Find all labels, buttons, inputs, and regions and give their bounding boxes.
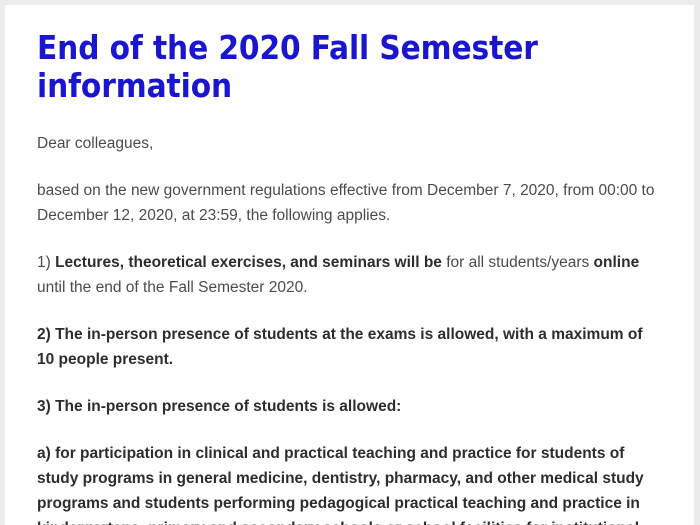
item-1-middle: for all students/years (442, 254, 594, 271)
paragraph-item-3: 3) The in-person presence of students is… (37, 372, 659, 419)
paragraph-item-a: a) for participation in clinical and pra… (37, 419, 659, 525)
document-frame: End of the 2020 Fall Semester informatio… (0, 0, 700, 525)
paragraph-intro: based on the new government regulations … (37, 156, 659, 228)
document-page: End of the 2020 Fall Semester informatio… (5, 5, 694, 525)
page-title: End of the 2020 Fall Semester informatio… (37, 5, 557, 105)
item-1-number: 1) (37, 254, 55, 271)
paragraph-greeting: Dear colleagues, (37, 105, 659, 156)
item-1-tail: until the end of the Fall Semester 2020. (37, 279, 308, 296)
item-1-bold-online: online (594, 254, 640, 271)
paragraph-item-2: 2) The in-person presence of students at… (37, 300, 659, 372)
paragraph-item-1: 1) Lectures, theoretical exercises, and … (37, 228, 659, 300)
item-1-bold-lead: Lectures, theoretical exercises, and sem… (55, 254, 442, 271)
